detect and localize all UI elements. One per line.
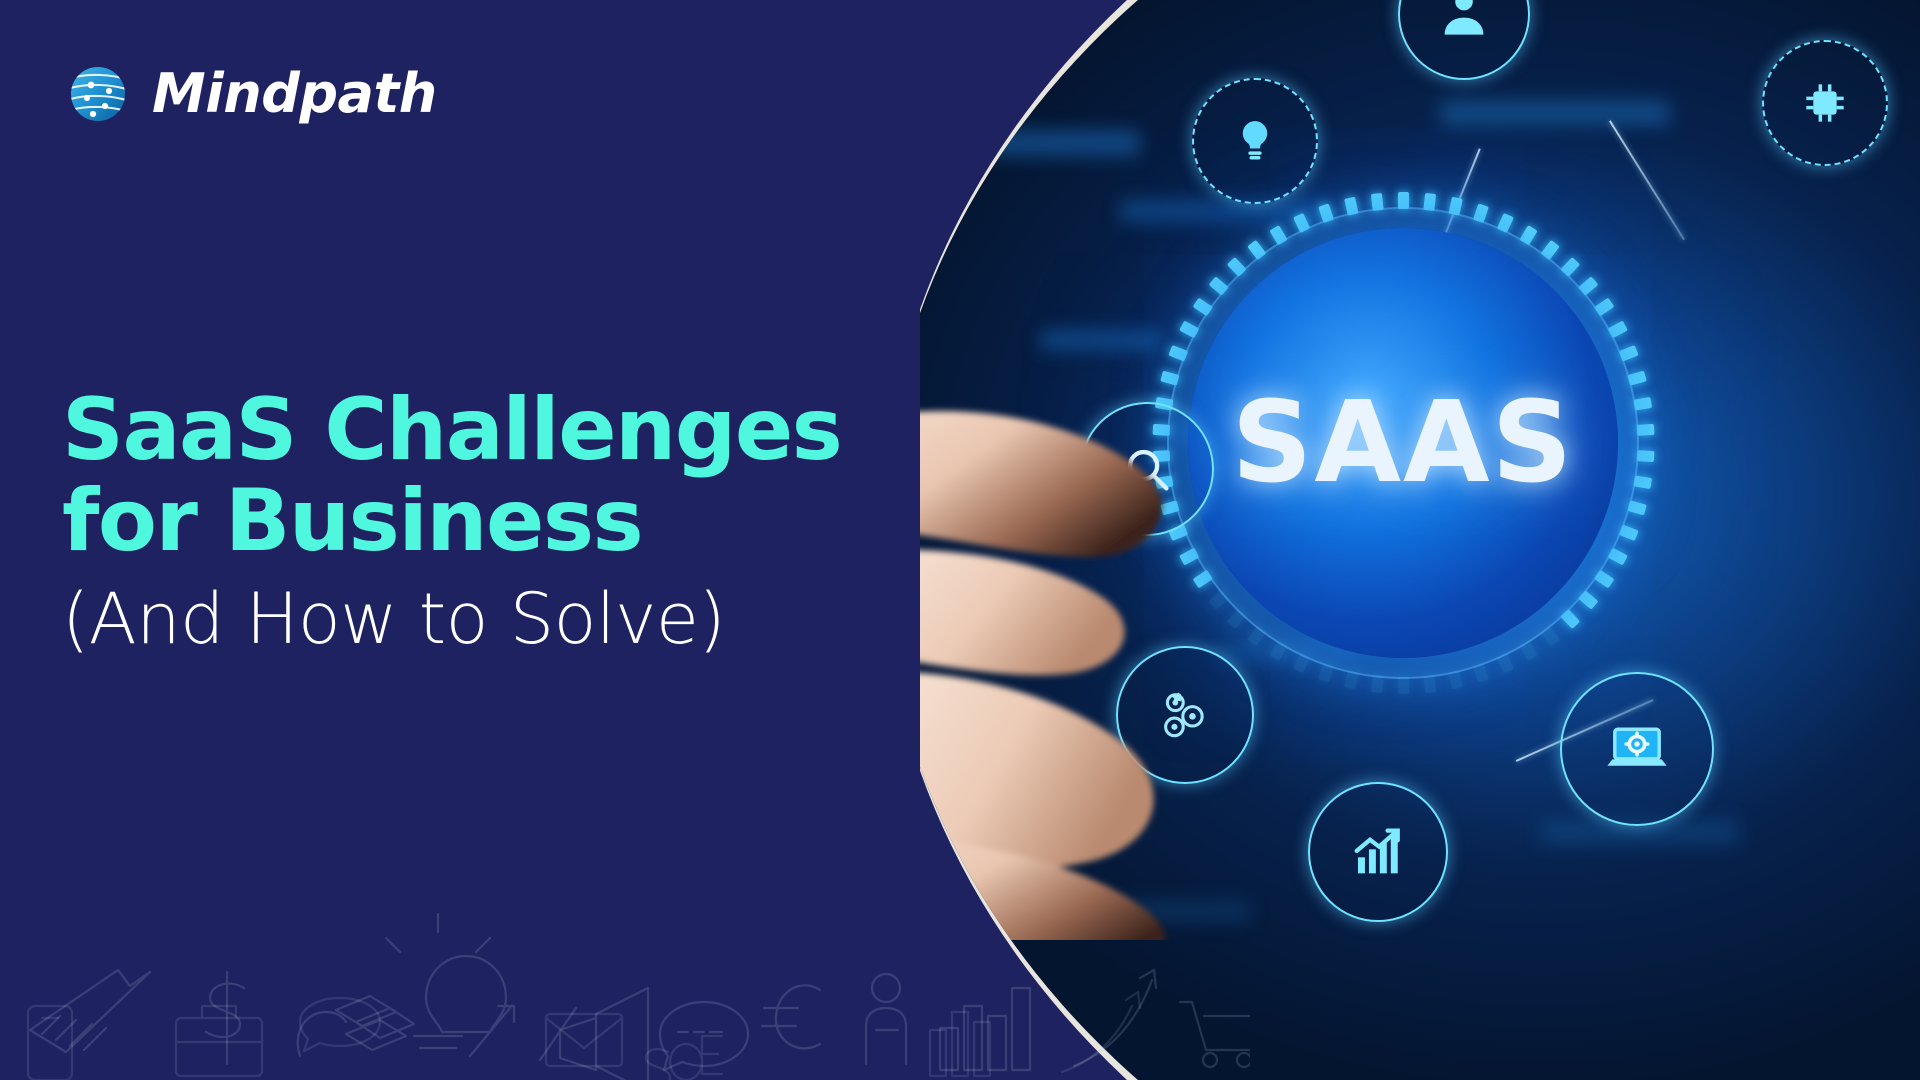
chip-node-icon: [1762, 40, 1888, 166]
ring-tick: [1540, 626, 1559, 646]
ring-tick: [1633, 397, 1652, 411]
seo-doodle: [660, 1002, 748, 1070]
ring-tick: [1318, 203, 1334, 223]
ring-tick: [1627, 371, 1646, 386]
ring-tick: [1618, 345, 1638, 362]
briefcase-doodle: [176, 1006, 262, 1076]
bar-chart-doodle: [930, 1012, 990, 1076]
ring-tick: [1627, 500, 1646, 515]
ring-tick: [1578, 590, 1598, 609]
ring-tick: [1519, 225, 1537, 245]
ring-tick: [1344, 197, 1358, 216]
speech-bubble-doodle: [300, 998, 380, 1051]
dollar-sign-doodle: [206, 972, 244, 1064]
ring-tick: [1448, 670, 1462, 689]
ring-tick: [1607, 548, 1627, 566]
ring-tick: [1636, 424, 1654, 436]
left-content-panel: Mindpath SaaS Challenges for Business (A…: [0, 0, 1250, 1080]
ring-tick: [1448, 197, 1462, 216]
ring-tick: [1560, 257, 1580, 277]
saas-label: SAAS: [1232, 378, 1575, 508]
doodle-icon-strip-lower: [0, 960, 1250, 1080]
ring-tick: [1594, 298, 1614, 317]
ring-tick: [1519, 641, 1537, 661]
page-title: SaaS Challenges for Business: [62, 385, 1062, 567]
ring-tick: [1398, 192, 1409, 209]
globe-network-icon: [62, 58, 134, 130]
growth-arrow-doodle: [1062, 992, 1140, 1072]
ring-tick: [1633, 475, 1652, 489]
headline-block: SaaS Challenges for Business (And How to…: [62, 385, 1062, 658]
doodle-icon-strip: [0, 820, 1250, 1080]
brand-logo[interactable]: Mindpath: [62, 58, 437, 130]
smartphone-doodle: [28, 1006, 72, 1080]
ring-tick: [1636, 450, 1654, 462]
ring-tick: [1423, 675, 1436, 693]
person-doodle: [866, 974, 906, 1064]
seo-text-doodle: [646, 1036, 722, 1080]
saas-challenges-banner: SAAS: [0, 0, 1920, 1080]
person-node-icon: [1398, 0, 1530, 80]
ring-tick: [1540, 240, 1559, 260]
arrow-up-right-doodle: [470, 1006, 576, 1060]
subheadline: (And How to Solve): [62, 581, 1062, 658]
brand-wordmark: Mindpath: [152, 67, 437, 121]
ring-tick: [1594, 570, 1614, 589]
ring-tick: [1578, 276, 1598, 295]
ring-tick: [1398, 677, 1409, 694]
ring-tick: [1607, 321, 1627, 339]
node-connector: [1609, 120, 1685, 240]
ring-tick: [1318, 663, 1334, 683]
arrow-doodle: [30, 970, 150, 1052]
bokeh-block: [1440, 100, 1670, 126]
ring-tick: [1344, 670, 1358, 689]
ring-tick: [1293, 653, 1310, 673]
chart-growth-node-icon: [1308, 782, 1448, 922]
ring-tick: [1370, 675, 1383, 693]
laptop-gear-node-icon: [1560, 672, 1714, 826]
megaphone-doodle: [560, 988, 648, 1080]
headline-line-2: for Business: [62, 476, 1062, 567]
ring-tick: [1560, 609, 1580, 629]
euro-sign-doodle: [762, 985, 820, 1048]
ring-tick: [1423, 193, 1436, 211]
ring-tick: [1473, 203, 1489, 223]
bar-chart-doodle: [940, 988, 1030, 1070]
ring-tick: [1496, 653, 1513, 673]
ring-tick: [1618, 525, 1638, 542]
growth-arrow-doodle: [1074, 970, 1156, 1066]
ring-tick: [1473, 663, 1489, 683]
headline-line-1: SaaS Challenges: [62, 385, 1062, 476]
lightbulb-doodle: [386, 914, 506, 1048]
shopping-cart-doodle: [1180, 1002, 1250, 1067]
envelope-doodle: [546, 1014, 622, 1066]
ring-tick: [1269, 225, 1287, 245]
ring-tick: [1370, 193, 1383, 211]
ring-tick: [1496, 213, 1513, 233]
money-hand-doodle: [298, 996, 414, 1056]
ring-tick: [1293, 213, 1310, 233]
